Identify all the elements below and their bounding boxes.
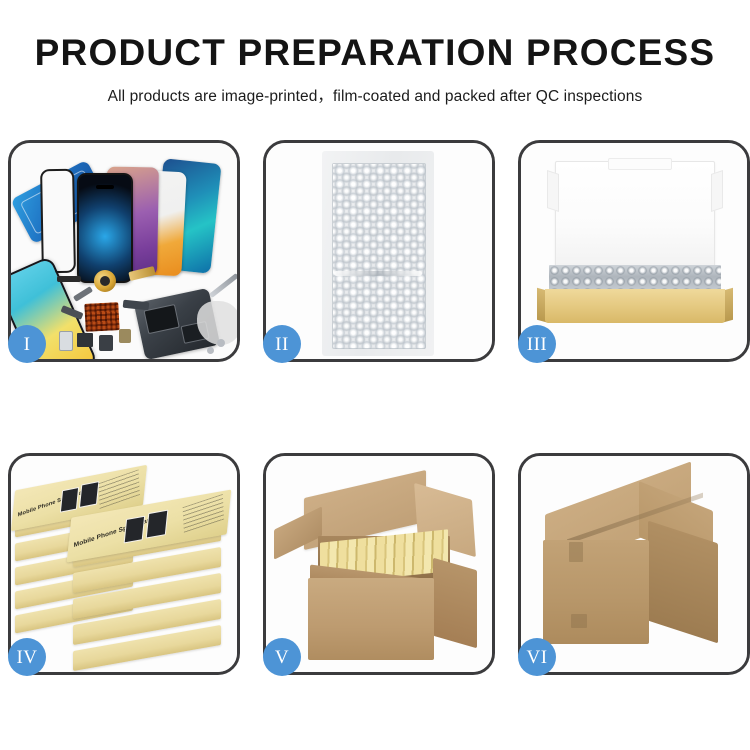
step-badge-3: III xyxy=(518,325,556,363)
bubble-wrap-sleeve xyxy=(322,151,434,356)
step-card-2[interactable]: II xyxy=(263,140,495,362)
carton-body-right xyxy=(433,558,477,649)
copper-mesh-part xyxy=(84,302,119,332)
step-card-3[interactable]: III xyxy=(518,140,750,362)
part-small-5 xyxy=(59,331,73,351)
box-tray-front xyxy=(545,289,725,323)
bubble-grid xyxy=(332,163,426,349)
box-screen-image-4 xyxy=(146,510,169,539)
box-screen-image-2 xyxy=(79,481,99,508)
coil-part xyxy=(94,270,116,292)
step-3-photo xyxy=(521,143,747,359)
box-screen-image-3 xyxy=(124,516,146,544)
part-small-9 xyxy=(73,286,93,302)
box-tray-right-side xyxy=(724,288,733,323)
sealed-carton-front xyxy=(543,540,649,644)
screw-1 xyxy=(217,339,225,347)
step-6-photo xyxy=(521,456,747,672)
step-badge-4: IV xyxy=(8,638,46,676)
box-spec-lines-front xyxy=(183,494,225,533)
step-card-1[interactable]: I xyxy=(8,140,240,362)
part-small-8 xyxy=(119,329,131,343)
step-4-photo: Mobile Phone Spare Parts Mobile Phone Sp… xyxy=(11,456,237,672)
phone-white-panel xyxy=(40,169,76,274)
carton-flap-left xyxy=(274,506,322,559)
kraft-box-stack: Mobile Phone Spare Parts Mobile Phone Sp… xyxy=(11,456,237,672)
steps-row-2: Mobile Phone Spare Parts Mobile Phone Sp… xyxy=(8,453,742,679)
sealed-carton-right xyxy=(648,521,718,644)
carton-tab-1 xyxy=(569,542,583,562)
step-badge-5: V xyxy=(263,638,301,676)
header: PRODUCT PREPARATION PROCESS All products… xyxy=(0,0,750,106)
lid-tab xyxy=(608,158,672,170)
step-card-4[interactable]: Mobile Phone Spare Parts Mobile Phone Sp… xyxy=(8,453,240,675)
carton-body-front xyxy=(308,578,434,660)
box-spec-lines-back xyxy=(98,469,140,508)
step-badge-6: VI xyxy=(518,638,556,676)
steps-row-1: I II xyxy=(8,140,742,366)
bubble-wrapped-units xyxy=(549,265,721,291)
part-small-7 xyxy=(99,335,113,351)
infographic-page: PRODUCT PREPARATION PROCESS All products… xyxy=(0,0,750,750)
step-1-photo xyxy=(11,143,237,359)
process-steps-grid: I II xyxy=(8,140,742,679)
step-card-6[interactable]: VI xyxy=(518,453,750,675)
step-5-photo xyxy=(266,456,492,672)
part-small-4 xyxy=(123,300,150,311)
tweezers-icon xyxy=(209,273,237,298)
inner-box-lid xyxy=(555,161,715,271)
page-subtitle: All products are image-printed，film-coat… xyxy=(0,71,750,106)
part-small-6 xyxy=(77,333,93,347)
step-badge-2: II xyxy=(263,325,301,363)
step-2-photo xyxy=(266,143,492,359)
box-screen-image-1 xyxy=(60,487,79,513)
step-badge-1: I xyxy=(8,325,46,363)
bubble-wrap-seam xyxy=(334,271,422,276)
part-small-1 xyxy=(57,276,81,282)
screw-2 xyxy=(207,347,214,354)
phone-front-display xyxy=(77,173,133,283)
page-title: PRODUCT PREPARATION PROCESS xyxy=(0,0,750,71)
step-card-5[interactable]: V xyxy=(263,453,495,675)
carton-tab-2 xyxy=(571,614,587,628)
